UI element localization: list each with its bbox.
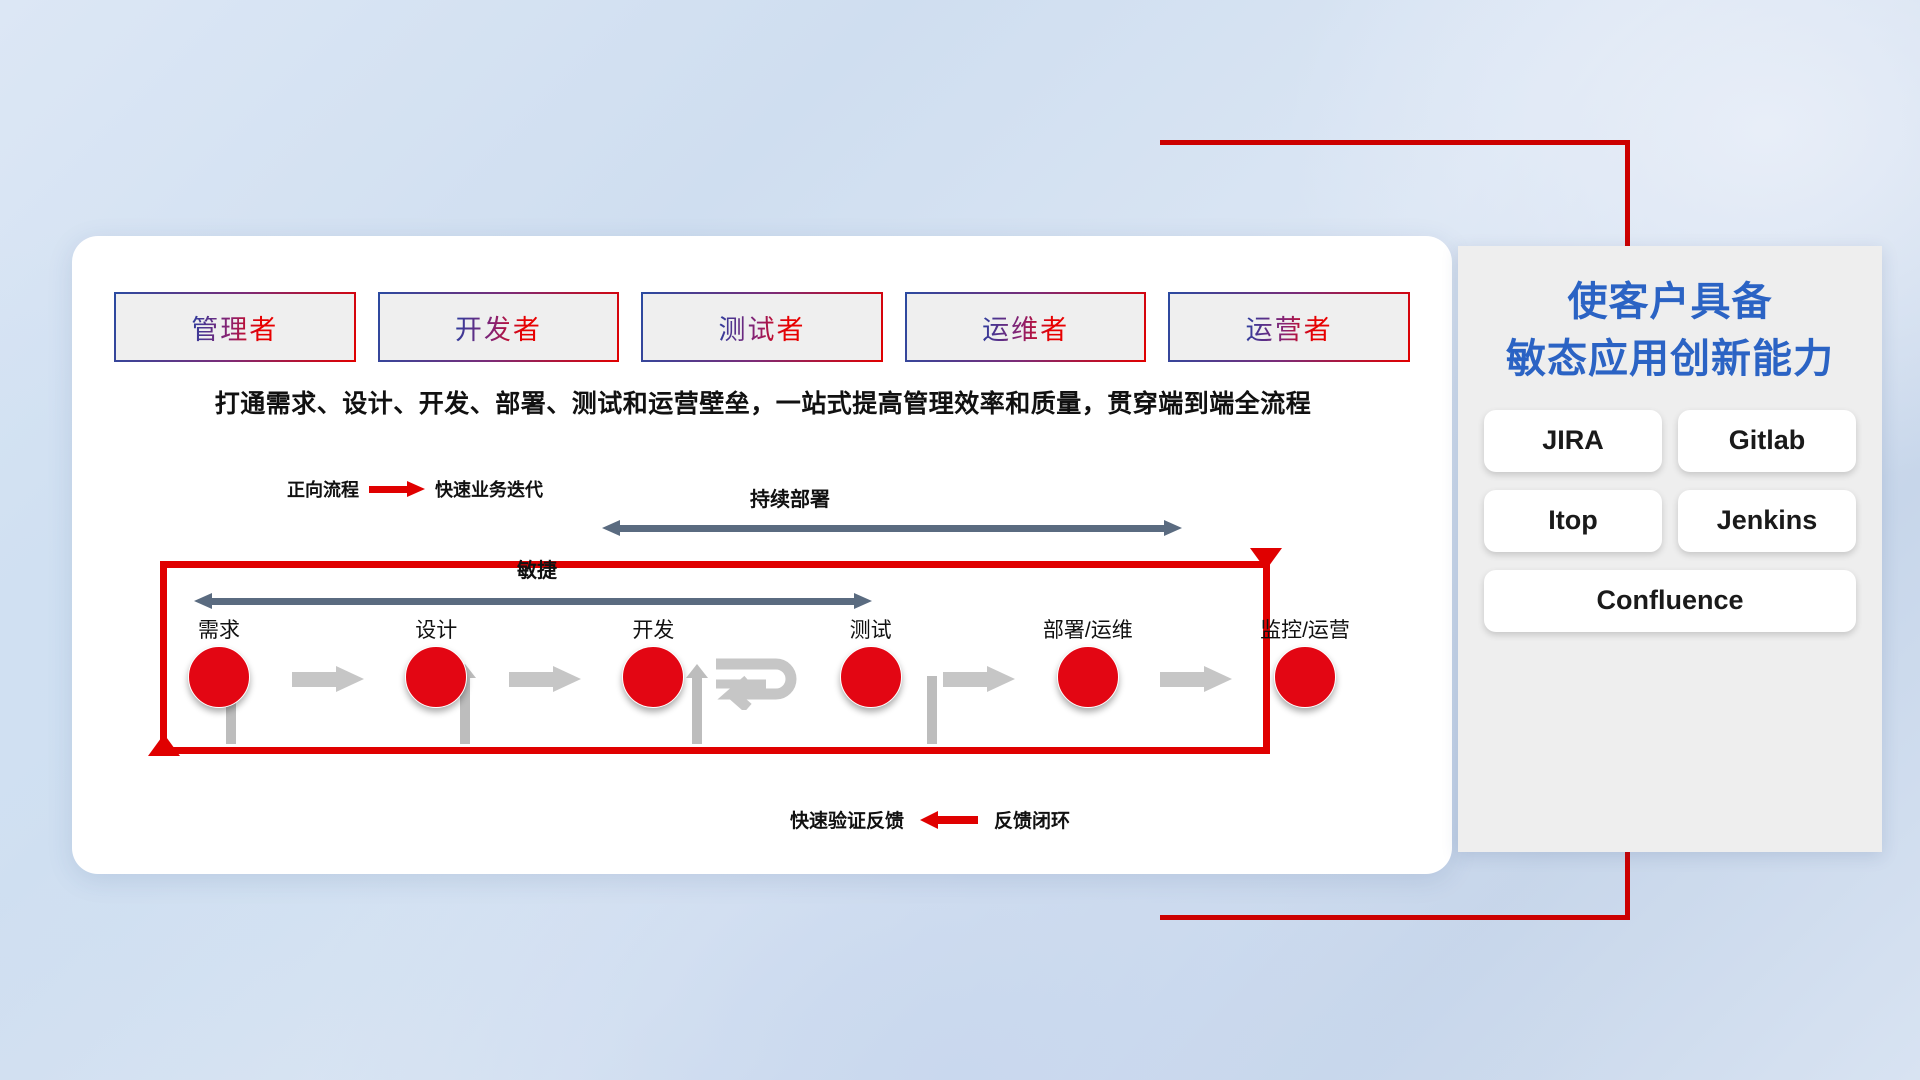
uturn-arrow-icon: [714, 654, 810, 710]
continuous-deploy-label: 持续部署: [750, 483, 830, 512]
arrow-bar: [618, 525, 1166, 532]
arrow-left-red-icon: [920, 813, 978, 827]
stage-label: 测试: [850, 614, 892, 644]
arrow-head-right-icon: [854, 593, 872, 609]
stage-label: 部署/运维: [1043, 614, 1133, 644]
forward-flow-right-label: 快速业务迭代: [435, 476, 543, 502]
role-label: 开发者: [455, 308, 542, 347]
forward-flow-left-label: 正向流程: [287, 476, 359, 502]
stage-label: 开发: [632, 614, 674, 644]
chevron-right-icon: [943, 666, 1015, 692]
role-label: 运营者: [1246, 308, 1333, 347]
connector-1: [271, 614, 384, 744]
stage-label: 监控/运营: [1260, 614, 1350, 644]
forward-flow-legend: 正向流程 快速业务迭代: [287, 476, 543, 502]
devops-pipeline: 需求 设计 开发 测试: [167, 614, 1357, 744]
stage-node-circle: [622, 646, 684, 708]
tool-badge-jira[interactable]: JIRA: [1484, 410, 1662, 472]
stage-label: 需求: [198, 614, 240, 644]
role-box-tester[interactable]: 测试者: [641, 292, 883, 362]
loop-arrow-down-icon: [1250, 548, 1282, 570]
agile-arrow: [194, 594, 872, 608]
stage-node-circle: [840, 646, 902, 708]
role-label: 运维者: [982, 308, 1069, 347]
tool-badges: JIRA Gitlab Itop Jenkins Confluence: [1484, 410, 1856, 632]
role-box-operator[interactable]: 运营者: [1168, 292, 1410, 362]
side-title-line-2: 敏态应用创新能力: [1484, 331, 1856, 388]
role-label: 管理者: [191, 308, 278, 347]
chevron-right-icon: [509, 666, 581, 692]
stage-test[interactable]: 测试: [819, 614, 923, 708]
stage-node-circle: [1057, 646, 1119, 708]
tool-badge-gitlab[interactable]: Gitlab: [1678, 410, 1856, 472]
connector-5: [1140, 614, 1253, 744]
connector-3-loopback: [705, 614, 818, 744]
role-box-manager[interactable]: 管理者: [114, 292, 356, 362]
stage-node-circle: [405, 646, 467, 708]
main-card: 管理者 开发者 测试者 运维者 运营者 打通需求、设计、开发、部署、测试和运营壁…: [72, 236, 1452, 874]
stage-design[interactable]: 设计: [384, 614, 488, 708]
tool-badge-jenkins[interactable]: Jenkins: [1678, 490, 1856, 552]
stage-monitor-operations[interactable]: 监控/运营: [1253, 614, 1357, 708]
roles-row: 管理者 开发者 测试者 运维者 运营者: [114, 292, 1410, 362]
arrow-head-right-icon: [1164, 520, 1182, 536]
tool-badge-confluence[interactable]: Confluence: [1484, 570, 1856, 632]
role-box-ops[interactable]: 运维者: [905, 292, 1147, 362]
role-box-developer[interactable]: 开发者: [378, 292, 620, 362]
role-label: 测试者: [718, 308, 805, 347]
feedback-right-label: 反馈闭环: [994, 806, 1070, 833]
value-proposition-panel: 使客户具备 敏态应用创新能力 JIRA Gitlab Itop Jenkins …: [1458, 246, 1882, 852]
side-title-line-1: 使客户具备: [1484, 274, 1856, 331]
description-text: 打通需求、设计、开发、部署、测试和运营壁垒，一站式提高管理效率和质量，贯穿端到端…: [118, 384, 1408, 420]
stage-requirement[interactable]: 需求: [167, 614, 271, 708]
continuous-deploy-arrow: [602, 521, 1182, 535]
agile-label: 敏捷: [517, 554, 557, 583]
stage-develop[interactable]: 开发: [601, 614, 705, 708]
tool-badge-itop[interactable]: Itop: [1484, 490, 1662, 552]
stage-node-circle: [188, 646, 250, 708]
feedback-legend: 快速验证反馈 反馈闭环: [790, 806, 1070, 833]
arrow-right-red-icon: [369, 483, 425, 495]
chevron-right-icon: [1160, 666, 1232, 692]
connector-4: [923, 614, 1036, 744]
feedback-left-label: 快速验证反馈: [790, 806, 904, 833]
arrow-bar: [210, 598, 856, 605]
side-panel-title: 使客户具备 敏态应用创新能力: [1484, 274, 1856, 388]
stage-deploy-ops[interactable]: 部署/运维: [1036, 614, 1140, 708]
stage-label: 设计: [415, 614, 457, 644]
chevron-right-icon: [292, 666, 364, 692]
connector-2: [488, 614, 601, 744]
stage-node-circle: [1274, 646, 1336, 708]
